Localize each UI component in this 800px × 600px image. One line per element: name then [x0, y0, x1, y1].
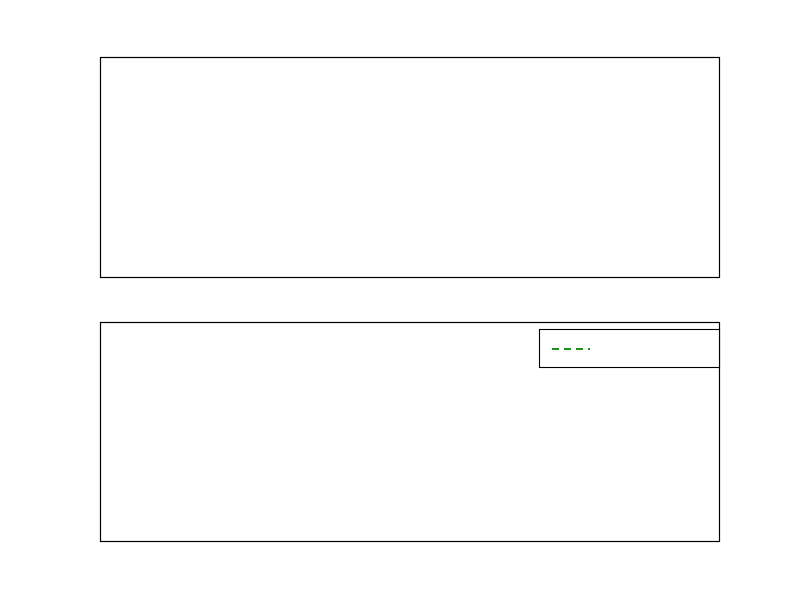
top-axes: [101, 58, 720, 278]
top-axes-frame: [101, 58, 720, 278]
legend[interactable]: [540, 330, 720, 368]
bottom-axes-plot-area: [0, 0, 720, 542]
top-axes-plot-area: [101, 58, 720, 278]
figure-canvas: [0, 0, 800, 600]
matplotlib-figure: [0, 0, 800, 600]
bottom-axes: [0, 0, 720, 542]
